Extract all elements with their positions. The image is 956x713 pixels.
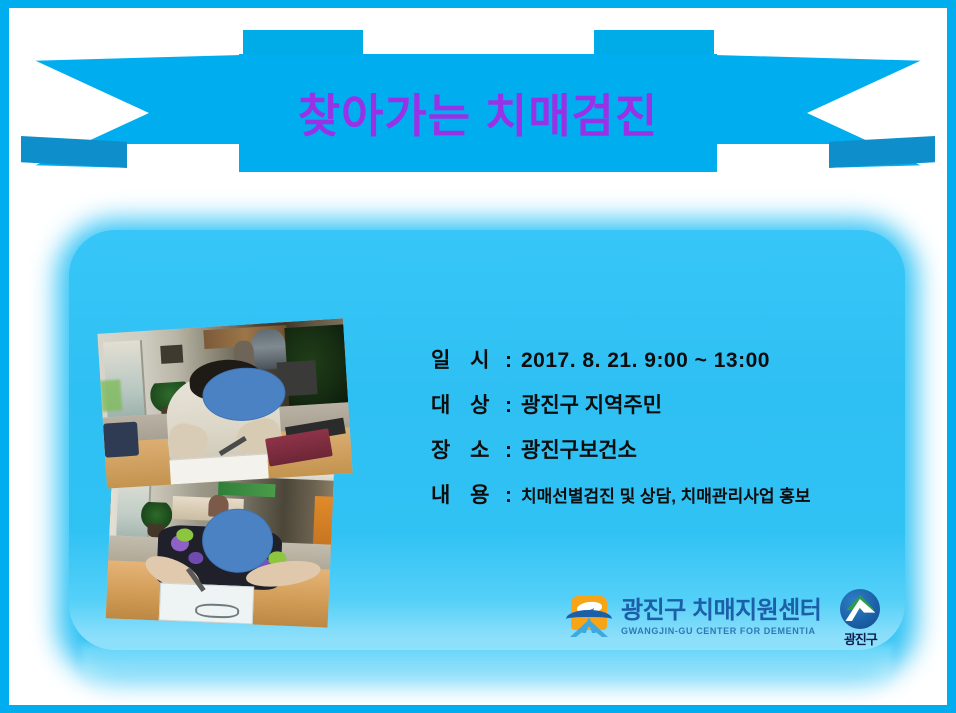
- detail-label-audience: 대 상: [431, 389, 505, 419]
- emblem-label: 광진구: [833, 629, 887, 648]
- detail-colon-audience: :: [505, 394, 521, 418]
- banner-ribbon: 찾아가는 치매검진: [9, 30, 947, 190]
- detail-label-datetime: 일 시: [431, 344, 505, 374]
- detail-value-audience: 광진구 지역주민: [521, 389, 662, 419]
- dementia-center-logo-icon: [565, 593, 613, 641]
- photo-1-wall-frame: [160, 344, 183, 364]
- detail-colon-content: :: [505, 484, 521, 508]
- ribbon-tab-left: [243, 30, 363, 56]
- detail-row-audience: 대 상 : 광진구 지역주민: [431, 389, 901, 434]
- detail-value-location: 광진구보건소: [521, 434, 637, 464]
- detail-value-datetime: 2017. 8. 21. 9:00 ~ 13:00: [521, 349, 770, 373]
- detail-colon-datetime: :: [505, 349, 521, 373]
- logo-text-block: 광진구 치매지원센터 GWANGJIN-GU CENTER FOR DEMENT…: [621, 598, 821, 635]
- content-panel-reflection: [81, 644, 893, 702]
- detail-row-location: 장 소 : 광진구보건소: [431, 434, 901, 479]
- poster-title: 찾아가는 치매검진: [239, 54, 717, 172]
- logo-name-english: GWANGJIN-GU CENTER FOR DEMENTIA: [621, 626, 821, 636]
- emblem-white-shape: [845, 599, 875, 621]
- photo-1-window-green: [100, 379, 122, 411]
- photo-2-green-sign: [218, 482, 276, 497]
- detail-label-location: 장 소: [431, 434, 505, 464]
- event-details: 일 시 : 2017. 8. 21. 9:00 ~ 13:00 대 상 : 광진…: [431, 344, 901, 524]
- gwangjin-gu-emblem: 광진구: [833, 589, 887, 645]
- detail-row-datetime: 일 시 : 2017. 8. 21. 9:00 ~ 13:00: [431, 344, 901, 389]
- detail-row-content: 내 용 : 치매선별검진 및 상담, 치매관리사업 홍보: [431, 479, 901, 524]
- detail-value-content: 치매선별검진 및 상담, 치매관리사업 홍보: [521, 482, 811, 507]
- organization-logo: 광진구 치매지원센터 GWANGJIN-GU CENTER FOR DEMENT…: [565, 586, 895, 648]
- detail-colon-location: :: [505, 439, 521, 463]
- photo-screening-desk: [97, 318, 352, 488]
- photo-1-scene: [97, 318, 352, 488]
- logo-name-korean: 광진구 치매지원센터: [621, 598, 821, 623]
- photo-2-orange-wall-panel: [313, 496, 333, 551]
- photo-1-chair: [103, 421, 140, 457]
- ribbon-tab-right: [594, 30, 714, 56]
- emblem-circle: [840, 589, 880, 629]
- detail-label-content: 내 용: [431, 479, 505, 509]
- poster-canvas: 찾아가는 치매검진: [9, 8, 947, 705]
- poster-root: 찾아가는 치매검진: [0, 0, 956, 713]
